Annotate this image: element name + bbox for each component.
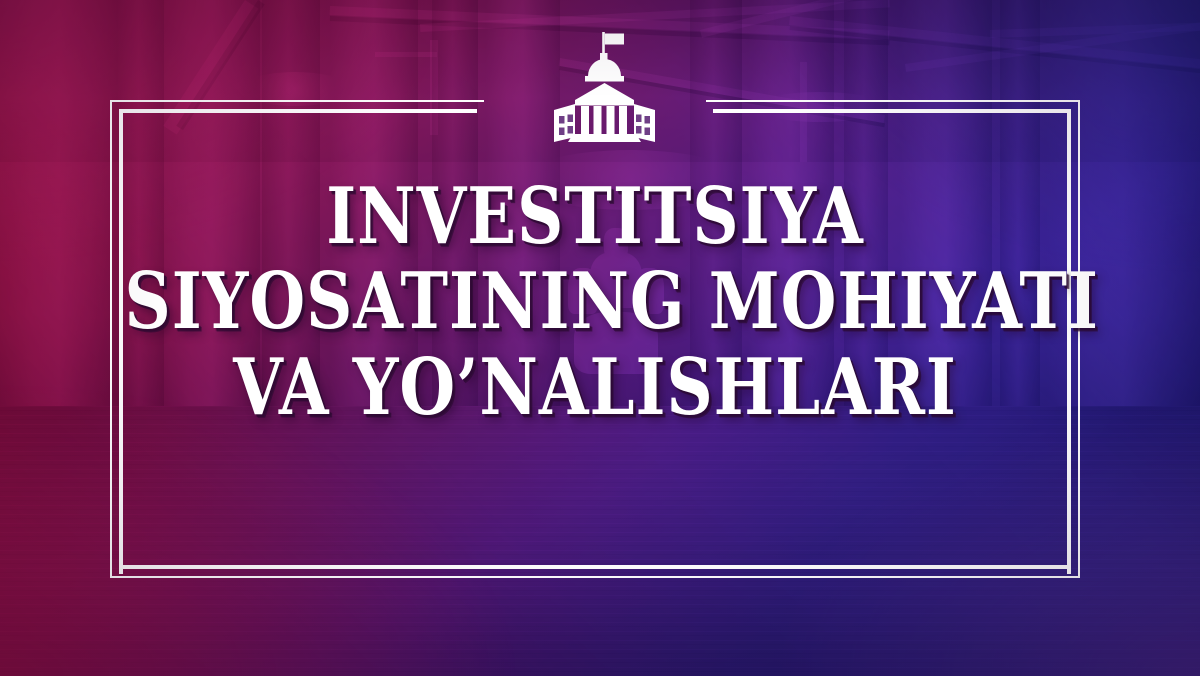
frame-inner-line-bottom [119,565,1071,569]
title-slide: INVESTITSIYA SIYOSATINING MOHIYATI VA YO… [0,0,1200,676]
page-title: INVESTITSIYA SIYOSATINING MOHIYATI VA YO… [110,178,1080,414]
capitol-building-icon [548,28,660,144]
frame-line-bottom [110,576,1080,578]
frame-inner-line-top-right [713,109,1071,113]
title-line-1: INVESTITSIYA [125,178,1066,255]
frame-line-top-right [706,100,1080,102]
title-line-2: SIYOSATINING MOHIYATI [125,263,1066,340]
frame-inner-line-top-left [119,109,477,113]
frame-line-top-left [110,100,484,102]
title-line-3: VA YO’NALISHLARI [125,349,1066,426]
